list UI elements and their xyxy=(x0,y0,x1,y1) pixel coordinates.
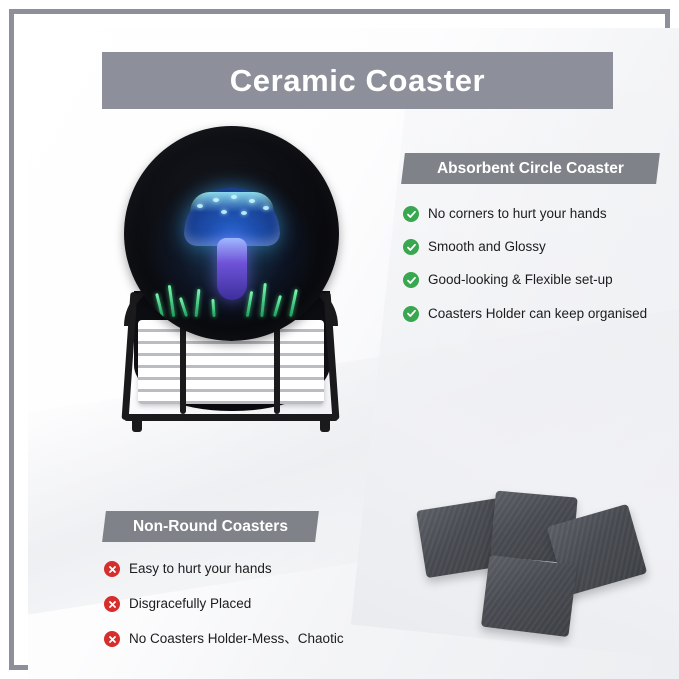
page-title: Ceramic Coaster xyxy=(230,63,485,99)
check-circle-icon xyxy=(403,272,419,288)
holder-foot-left xyxy=(132,416,142,432)
list-item: Easy to hurt your hands xyxy=(104,561,404,577)
holder-rail-right xyxy=(324,292,340,420)
list-item-label: Coasters Holder can keep organised xyxy=(428,306,647,322)
round-coaster-front xyxy=(124,126,339,341)
holder-rail-left xyxy=(122,292,138,420)
circle-coaster-photo xyxy=(88,116,383,436)
list-item: Smooth and Glossy xyxy=(403,239,673,255)
square-coasters-photo xyxy=(403,488,653,658)
check-circle-icon xyxy=(403,206,419,222)
list-item: No Coasters Holder-Mess、Chaotic xyxy=(104,631,404,647)
list-item-label: Disgracefully Placed xyxy=(129,596,251,612)
square-coaster xyxy=(481,555,577,637)
grass-icon xyxy=(152,271,312,317)
section-heading-cons: Non-Round Coasters xyxy=(102,511,319,542)
check-circle-icon xyxy=(403,306,419,322)
image-frame-border: Ceramic Coaster xyxy=(9,9,670,670)
list-item-label: Smooth and Glossy xyxy=(428,239,546,255)
mushroom-cap-dots xyxy=(187,192,277,222)
title-banner: Ceramic Coaster xyxy=(102,52,613,109)
infographic-canvas: Ceramic Coaster xyxy=(28,28,679,679)
section-heading-pros-label: Absorbent Circle Coaster xyxy=(437,160,624,178)
list-item-label: No corners to hurt your hands xyxy=(428,206,607,222)
section-heading-pros: Absorbent Circle Coaster xyxy=(401,153,660,184)
holder-foot-right xyxy=(320,416,330,432)
list-item-label: Good-looking & Flexible set-up xyxy=(428,272,613,288)
list-item: Good-looking & Flexible set-up xyxy=(403,272,673,288)
list-item-label: No Coasters Holder-Mess、Chaotic xyxy=(129,631,344,647)
cross-circle-icon xyxy=(104,596,120,612)
list-item-label: Easy to hurt your hands xyxy=(129,561,272,577)
list-item: No corners to hurt your hands xyxy=(403,206,673,222)
cross-circle-icon xyxy=(104,631,120,647)
list-item: Disgracefully Placed xyxy=(104,596,404,612)
holder-rail-bottom xyxy=(124,414,338,421)
cross-circle-icon xyxy=(104,561,120,577)
check-circle-icon xyxy=(403,239,419,255)
pros-list: No corners to hurt your hands Smooth and… xyxy=(403,206,673,339)
section-heading-cons-label: Non-Round Coasters xyxy=(133,518,288,536)
list-item: Coasters Holder can keep organised xyxy=(403,306,673,322)
cons-list: Easy to hurt your hands Disgracefully Pl… xyxy=(104,561,404,667)
product-infographic: Ceramic Coaster xyxy=(0,0,679,679)
